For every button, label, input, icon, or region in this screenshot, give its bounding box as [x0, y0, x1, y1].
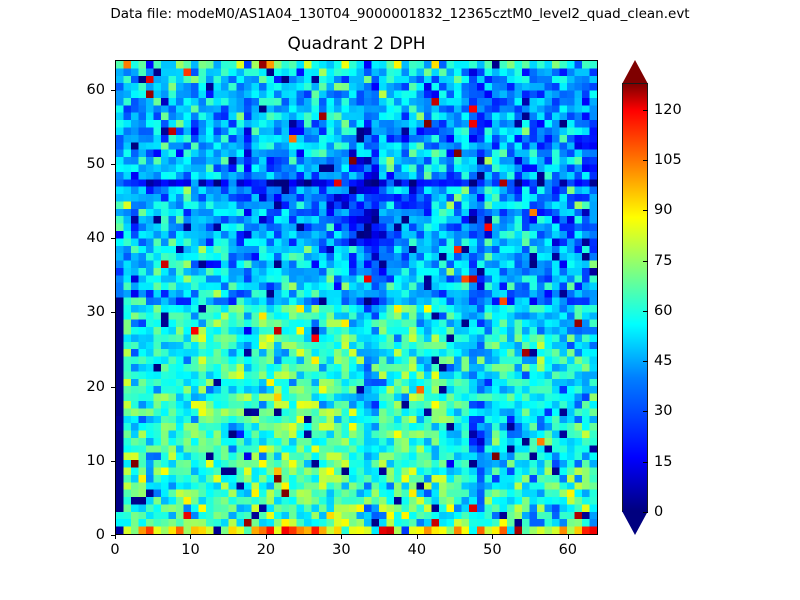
colorbar-tick-mark	[643, 512, 648, 513]
colorbar-tick-label: 30	[654, 403, 672, 419]
y-tick-mark	[111, 164, 115, 165]
data-file-label: Data file: modeM0/AS1A04_130T04_90000018…	[0, 6, 800, 22]
colorbar-tick-mark	[643, 462, 648, 463]
y-tick-label: 20	[59, 379, 105, 395]
x-tick-label: 40	[408, 542, 426, 558]
y-tick-label: 60	[59, 82, 105, 98]
x-tick-mark	[417, 535, 418, 539]
colorbar-tick-mark	[643, 261, 648, 262]
colorbar-tick-label: 60	[654, 303, 672, 319]
colorbar-tick-mark	[643, 110, 648, 111]
colorbar-tick-mark	[643, 411, 648, 412]
y-tick-label: 0	[59, 527, 105, 543]
x-tick-mark	[568, 535, 569, 539]
colorbar-tick-mark	[643, 160, 648, 161]
y-tick-mark	[111, 461, 115, 462]
y-tick-mark	[111, 312, 115, 313]
y-tick-label: 50	[59, 156, 105, 172]
x-tick-label: 0	[110, 542, 119, 558]
colorbar-over-arrow	[622, 60, 648, 84]
x-tick-mark	[115, 535, 116, 539]
colorbar: 0153045607590105120	[622, 60, 648, 535]
plot-title: Quadrant 2 DPH	[115, 34, 598, 54]
y-tick-mark	[111, 238, 115, 239]
y-tick-mark	[111, 90, 115, 91]
colorbar-tick-label: 105	[654, 152, 682, 168]
y-tick-label: 10	[59, 453, 105, 469]
x-tick-mark	[190, 535, 191, 539]
matplotlib-figure: Data file: modeM0/AS1A04_130T04_90000018…	[0, 0, 800, 600]
x-tick-label: 10	[181, 542, 199, 558]
x-tick-mark	[492, 535, 493, 539]
heatmap-axes	[115, 60, 598, 535]
colorbar-tick-mark	[643, 361, 648, 362]
colorbar-gradient	[622, 83, 648, 512]
colorbar-tick-mark	[643, 210, 648, 211]
colorbar-tick-mark	[643, 311, 648, 312]
y-tick-label: 40	[59, 230, 105, 246]
y-tick-mark	[111, 535, 115, 536]
x-tick-label: 20	[257, 542, 275, 558]
colorbar-under-arrow	[622, 511, 648, 535]
colorbar-tick-label: 120	[654, 102, 682, 118]
x-tick-label: 50	[483, 542, 501, 558]
x-tick-mark	[266, 535, 267, 539]
heatmap-image	[116, 61, 597, 534]
colorbar-tick-label: 0	[654, 504, 663, 520]
colorbar-tick-label: 90	[654, 202, 672, 218]
y-tick-label: 30	[59, 304, 105, 320]
x-tick-label: 60	[559, 542, 577, 558]
colorbar-tick-label: 75	[654, 253, 672, 269]
colorbar-tick-label: 45	[654, 353, 672, 369]
colorbar-tick-label: 15	[654, 454, 672, 470]
x-tick-mark	[341, 535, 342, 539]
x-tick-label: 30	[332, 542, 350, 558]
y-tick-mark	[111, 387, 115, 388]
